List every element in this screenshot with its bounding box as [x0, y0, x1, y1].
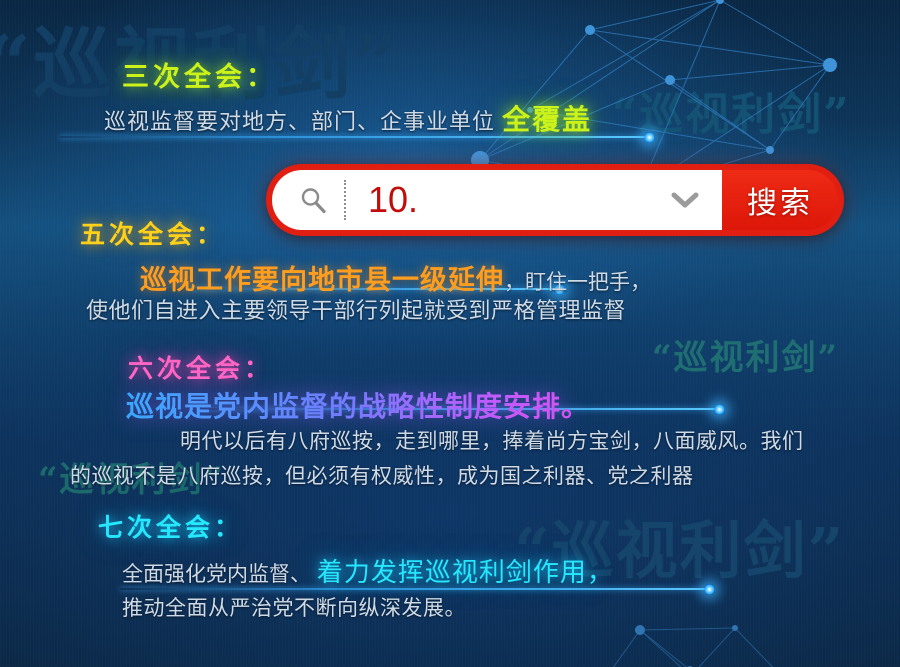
- watermark-text: “巡视利剑”: [612, 78, 851, 142]
- body-sixth-plenary-3: 的巡视不是八府巡按，但必须有权威性，成为国之利器、党之利器: [70, 460, 694, 490]
- emphasis-text: 着力发挥巡视利剑作用，: [317, 557, 614, 587]
- heading-sixth-plenary: 六次全会：: [128, 349, 273, 385]
- body-seventh-plenary-2: 推动全面从严治党不断向纵深发展。: [122, 592, 466, 622]
- chevron-down-icon[interactable]: [670, 190, 700, 210]
- body-text: 的巡视不是八府巡按，但必须有权威性，成为国之利器、党之利器: [70, 465, 694, 488]
- search-query-value[interactable]: 10.: [368, 182, 418, 218]
- body-fifth-plenary-1: 巡视工作要向地市县一级延伸，盯住一把手，: [140, 258, 651, 297]
- body-text: 使他们自进入主要领导干部行列起就受到严格管理监督: [86, 298, 626, 323]
- search-bar[interactable]: 10. 搜索: [266, 164, 844, 236]
- body-fifth-plenary-2: 使他们自进入主要领导干部行列起就受到严格管理监督: [86, 293, 626, 325]
- body-text: ，盯住一把手，: [504, 271, 651, 294]
- search-icon: [298, 185, 328, 215]
- poster-canvas: “巡视利剑”“巡视利剑”“巡视利剑”“巡视利剑”“巡视利剑”: [0, 0, 900, 667]
- network-graphic-bottom-center: [595, 610, 815, 667]
- emphasis-text: 巡视工作要向地市县一级延伸: [140, 265, 504, 295]
- heading-sixth-plenary-text: 六次全会：: [128, 355, 273, 383]
- search-button[interactable]: 搜索: [722, 170, 838, 230]
- heading-fifth-plenary-text: 五次全会：: [80, 221, 225, 249]
- heading-third-plenary: 三次全会：: [122, 55, 277, 94]
- heading-seventh-plenary: 七次全会：: [98, 508, 243, 544]
- heading-fifth-plenary: 五次全会：: [80, 215, 225, 251]
- heading-third-plenary-text: 三次全会：: [122, 62, 277, 92]
- body-text: 明代以后有八府巡按，走到哪里，捧着尚方宝剑，八面威风。我们: [180, 430, 804, 453]
- body-text: 巡视监督要对地方、部门、企事业单位: [104, 109, 502, 134]
- watermark-text: “巡视利剑”: [652, 330, 839, 379]
- body-text: 推动全面从严治党不断向纵深发展。: [122, 597, 466, 620]
- body-text: 全面强化党内监督、: [122, 563, 317, 586]
- heading-seventh-plenary-text: 七次全会：: [98, 514, 243, 542]
- body-sixth-plenary-2: 明代以后有八府巡按，走到哪里，捧着尚方宝剑，八面威风。我们: [180, 425, 804, 455]
- emphasis-text: 巡视是党内监督的战略性制度安排。: [126, 391, 590, 422]
- search-input-field[interactable]: 10.: [272, 170, 722, 230]
- body-sixth-plenary-1: 巡视是党内监督的战略性制度安排。: [126, 385, 590, 425]
- emphasis-text: 全覆盖: [502, 104, 592, 135]
- body-seventh-plenary-1: 全面强化党内监督、 着力发挥巡视利剑作用，: [122, 552, 614, 589]
- input-divider: [344, 180, 346, 220]
- body-third-plenary-1: 巡视监督要对地方、部门、企事业单位 全覆盖: [104, 98, 592, 138]
